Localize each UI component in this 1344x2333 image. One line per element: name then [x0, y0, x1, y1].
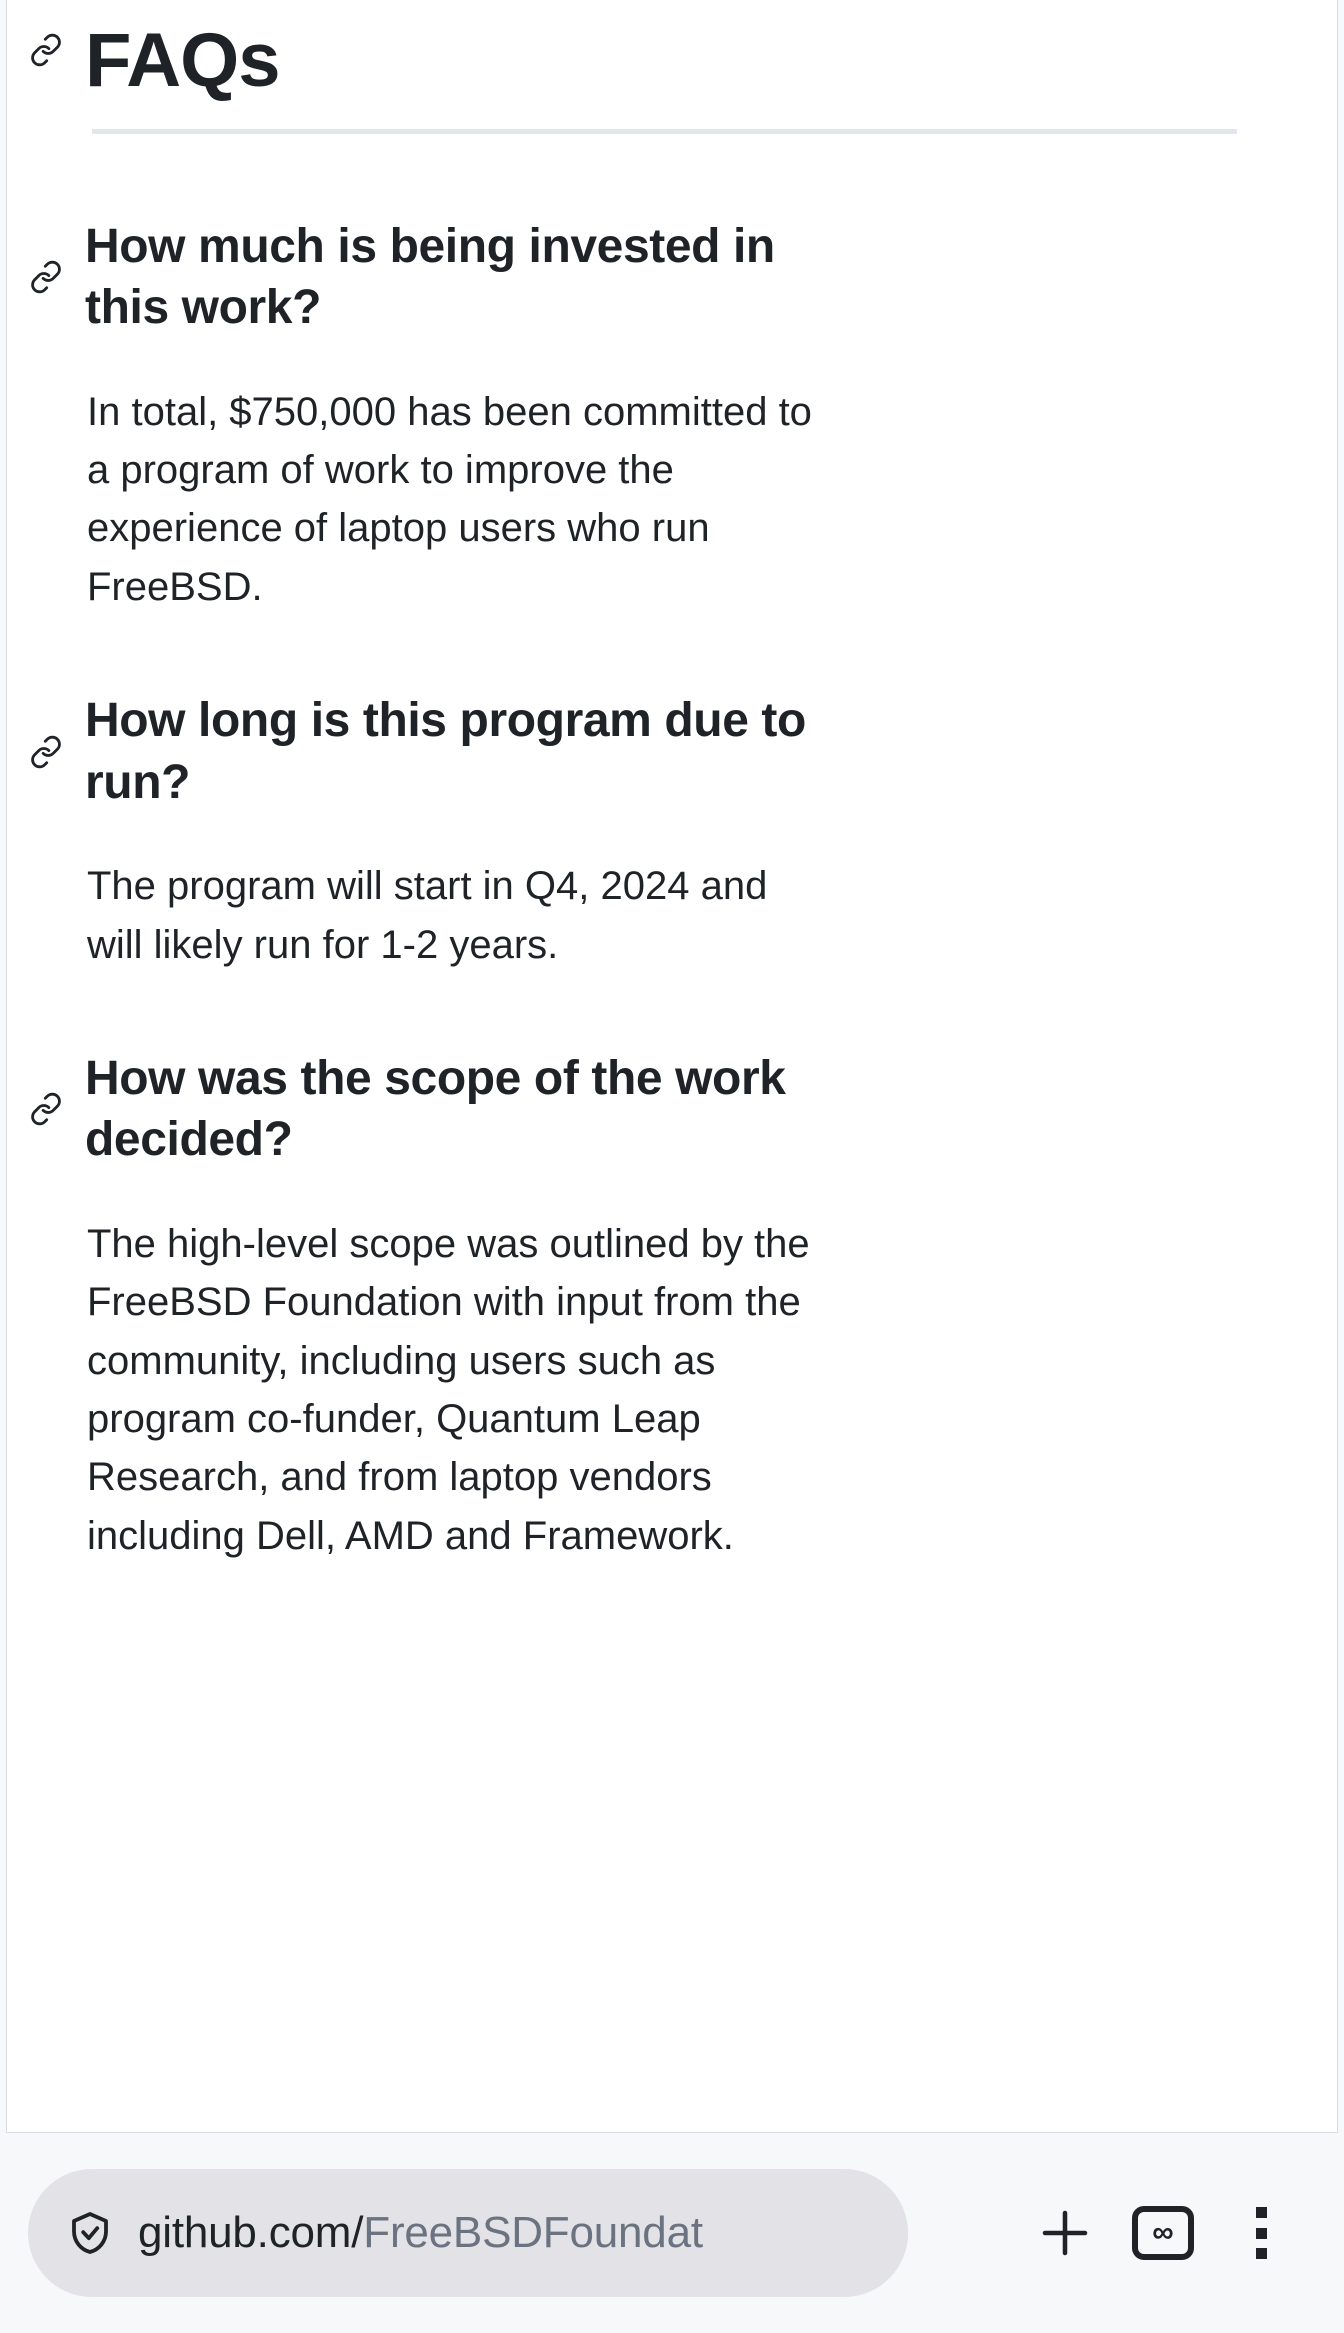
- anchor-link-faq-3[interactable]: [7, 1048, 85, 1171]
- anchor-link-faq-1[interactable]: [7, 216, 85, 339]
- page-title: FAQs: [85, 0, 280, 101]
- page-title-row: FAQs: [7, 0, 1337, 101]
- web-content-card: FAQs How much is being invested in this …: [6, 0, 1338, 2133]
- link-icon: [29, 735, 63, 769]
- link-icon: [29, 260, 63, 294]
- faq-question-row-2: How long is this program due to run?: [7, 690, 1337, 813]
- link-icon: [29, 1092, 63, 1126]
- url-text: github.com/FreeBSDFoundat: [138, 2211, 703, 2255]
- url-host: github.com/: [138, 2208, 363, 2257]
- faq-question: How long is this program due to run?: [85, 690, 845, 813]
- faq-answer: The high-level scope was outlined by the…: [7, 1215, 832, 1565]
- tab-count-button[interactable]: ∞: [1114, 2184, 1212, 2282]
- faq-question: How was the scope of the work decided?: [85, 1048, 845, 1171]
- faq-question-row-1: How much is being invested in this work?: [7, 216, 1337, 339]
- faq-question-row-3: How was the scope of the work decided?: [7, 1048, 1337, 1171]
- tab-count-label: ∞: [1152, 2218, 1173, 2248]
- address-bar[interactable]: github.com/FreeBSDFoundat: [28, 2169, 908, 2297]
- faq-answer: The program will start in Q4, 2024 and w…: [7, 857, 832, 974]
- url-path: FreeBSDFoundat: [363, 2208, 703, 2257]
- screen: FAQs How much is being invested in this …: [0, 0, 1344, 2333]
- anchor-link-faq-2[interactable]: [7, 690, 85, 813]
- browser-bottom-bar: github.com/FreeBSDFoundat ∞: [0, 2133, 1344, 2333]
- browser-menu-button[interactable]: [1212, 2184, 1310, 2282]
- anchor-link-title[interactable]: [7, 0, 85, 101]
- plus-icon: [1033, 2201, 1097, 2265]
- new-tab-button[interactable]: [1016, 2184, 1114, 2282]
- faq-answer: In total, $750,000 has been committed to…: [7, 383, 832, 617]
- browser-actions: ∞: [1016, 2184, 1316, 2282]
- shield-check-icon: [66, 2209, 114, 2257]
- more-vertical-icon: [1256, 2207, 1267, 2259]
- link-icon: [29, 33, 63, 67]
- tab-count-badge: ∞: [1132, 2206, 1194, 2260]
- faq-question: How much is being invested in this work?: [85, 216, 845, 339]
